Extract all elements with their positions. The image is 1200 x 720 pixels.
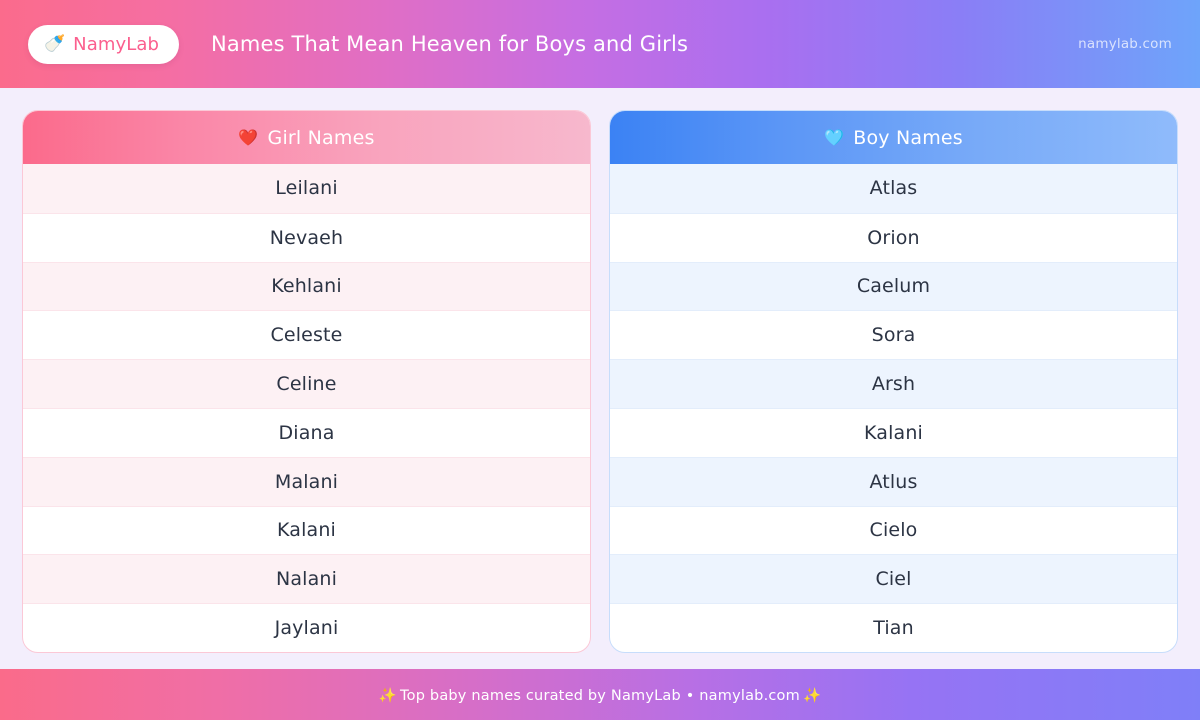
- list-item[interactable]: Caelum: [610, 262, 1177, 311]
- list-item[interactable]: Tian: [610, 603, 1177, 652]
- girl-names-card: ❤️ Girl Names Leilani Nevaeh Kehlani Cel…: [22, 110, 591, 653]
- girl-names-card-header: ❤️ Girl Names: [23, 111, 590, 164]
- list-item[interactable]: Jaylani: [23, 603, 590, 652]
- list-item[interactable]: Atlas: [610, 164, 1177, 213]
- list-item[interactable]: Arsh: [610, 359, 1177, 408]
- boy-names-list: Atlas Orion Caelum Sora Arsh Kalani Atlu…: [610, 164, 1177, 652]
- list-item[interactable]: Ciel: [610, 554, 1177, 603]
- list-item[interactable]: Atlus: [610, 457, 1177, 506]
- brand-logo-badge[interactable]: 🍼 NamyLab: [28, 25, 179, 64]
- girl-names-title: Girl Names: [268, 127, 375, 149]
- list-item[interactable]: Malani: [23, 457, 590, 506]
- page-header: 🍼 NamyLab Names That Mean Heaven for Boy…: [0, 0, 1200, 88]
- sparkles-icon-left: ✨: [379, 687, 397, 704]
- list-item[interactable]: Sora: [610, 310, 1177, 359]
- page-title: Names That Mean Heaven for Boys and Girl…: [211, 32, 688, 56]
- poster-page: 🍼 NamyLab Names That Mean Heaven for Boy…: [0, 0, 1200, 720]
- girl-names-list: Leilani Nevaeh Kehlani Celeste Celine Di…: [23, 164, 590, 652]
- sparkles-icon-right: ✨: [803, 687, 821, 704]
- list-item[interactable]: Celine: [23, 359, 590, 408]
- boy-names-title: Boy Names: [853, 127, 963, 149]
- list-item[interactable]: Kalani: [610, 408, 1177, 457]
- list-item[interactable]: Nalani: [23, 554, 590, 603]
- baby-bottle-icon: 🍼: [44, 36, 65, 53]
- list-item[interactable]: Celeste: [23, 310, 590, 359]
- list-item[interactable]: Cielo: [610, 506, 1177, 555]
- heart-icon: ❤️: [238, 130, 258, 146]
- list-item[interactable]: Kehlani: [23, 262, 590, 311]
- list-item[interactable]: Orion: [610, 213, 1177, 262]
- list-item[interactable]: Kalani: [23, 506, 590, 555]
- list-item[interactable]: Leilani: [23, 164, 590, 213]
- footer-text: Top baby names curated by NamyLab • namy…: [400, 688, 800, 704]
- blue-heart-icon: 🩵: [824, 130, 844, 146]
- list-item[interactable]: Nevaeh: [23, 213, 590, 262]
- page-footer: ✨ Top baby names curated by NamyLab • na…: [0, 669, 1200, 720]
- boy-names-card: 🩵 Boy Names Atlas Orion Caelum Sora Arsh…: [609, 110, 1178, 653]
- brand-name: NamyLab: [73, 34, 159, 55]
- names-columns: ❤️ Girl Names Leilani Nevaeh Kehlani Cel…: [0, 88, 1200, 669]
- site-url: namylab.com: [1078, 36, 1172, 52]
- boy-names-card-header: 🩵 Boy Names: [610, 111, 1177, 164]
- list-item[interactable]: Diana: [23, 408, 590, 457]
